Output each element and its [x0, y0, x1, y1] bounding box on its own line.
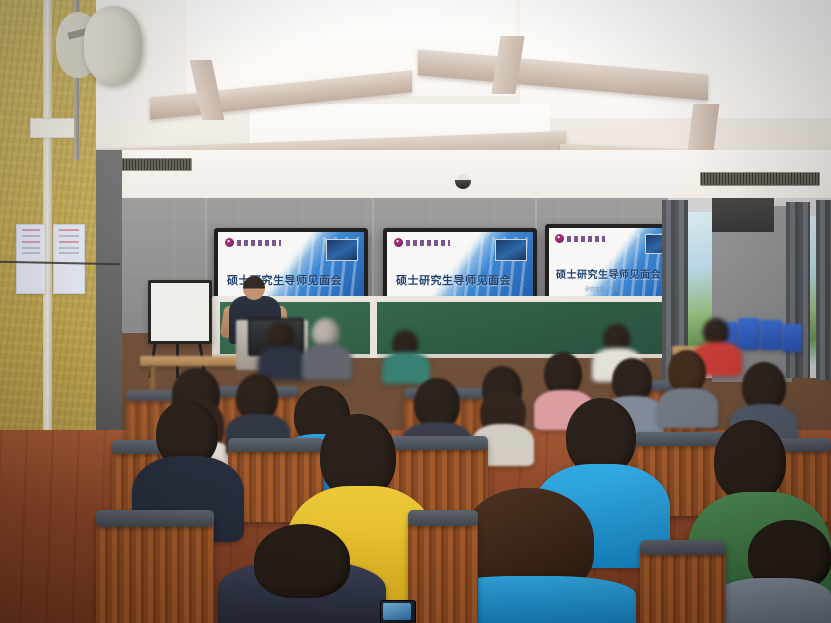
audience-torso	[382, 352, 430, 384]
wall-speaker-icon	[84, 6, 142, 84]
seat-cushion	[228, 438, 324, 452]
audience-torso	[302, 344, 352, 380]
seat-back[interactable]	[96, 520, 214, 623]
slide-thumbnail-center	[495, 239, 527, 261]
seat-cushion	[408, 510, 478, 526]
stacked-blue-chair-4	[782, 324, 802, 352]
audience-torso	[716, 578, 831, 623]
notice-right[interactable]	[53, 224, 85, 294]
notice-top[interactable]	[30, 118, 76, 138]
skylight-panel-2	[520, 0, 831, 118]
audience-torso	[658, 388, 718, 428]
seat-back[interactable]	[408, 520, 478, 623]
slide-title-right: 硕士研究生导师见面会	[556, 266, 661, 281]
projection-screen-housing	[712, 198, 774, 232]
smartphone-screen	[383, 603, 411, 620]
university-seal-icon	[555, 234, 564, 243]
university-name-mark	[567, 236, 605, 242]
seat-cushion	[640, 540, 726, 555]
stacked-blue-chair-2	[738, 318, 760, 350]
lecture-hall-photo: 硕士研究生导师见面会 研究生院 · 2019 硕士研究生导师见面会 研究生院 ·…	[0, 0, 831, 623]
seat-cushion	[96, 510, 214, 527]
curtain-right[interactable]	[816, 200, 831, 380]
presenter-head	[243, 276, 265, 300]
air-vent-left	[110, 158, 192, 171]
audience-head	[714, 420, 786, 502]
stacked-blue-chair-3	[760, 320, 782, 350]
slide-subtitle-right: 研究生院 · 2019	[585, 286, 621, 293]
notice-left[interactable]	[16, 224, 46, 294]
university-seal-icon	[394, 238, 403, 247]
air-vent-right	[700, 172, 820, 186]
university-seal-icon	[225, 238, 234, 247]
slide-thumbnail-left	[326, 239, 358, 261]
seat-back[interactable]	[640, 548, 726, 623]
seat-cushion	[390, 436, 488, 450]
slide-title-center: 硕士研究生导师见面会	[396, 272, 511, 288]
audience-torso	[258, 346, 306, 380]
university-name-mark	[237, 240, 281, 246]
audience-head	[254, 524, 350, 598]
chalkboard-divider	[370, 296, 377, 358]
university-name-mark	[406, 240, 450, 246]
flipchart-whiteboard[interactable]	[148, 280, 212, 344]
